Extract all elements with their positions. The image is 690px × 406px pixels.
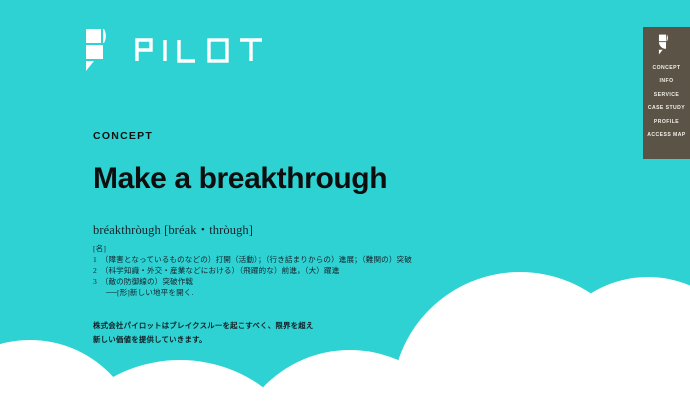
page-title: Make a breakthrough — [93, 163, 613, 195]
page-root: CONCEPT INFO SERVICE CASE STUDY PROFILE … — [0, 0, 690, 406]
body-copy-line-1: 株式会社パイロットはブレイクスルーを起こすべく、限界を超え — [93, 319, 613, 332]
site-logo[interactable] — [84, 27, 284, 73]
sidebar-item-concept[interactable]: CONCEPT — [652, 66, 680, 71]
section-eyebrow-label: CONCEPT — [93, 130, 613, 142]
dictionary-sense-3: 3 （敵の防御線の）突破作戦 — [93, 276, 613, 287]
dictionary-term: bréakthròugh [bréak・thròugh] — [93, 219, 613, 238]
pilot-paper-plane-logo-small-icon — [658, 34, 675, 55]
side-navigation[interactable]: CONCEPT INFO SERVICE CASE STUDY PROFILE … — [643, 27, 690, 159]
dictionary-part-of-speech: [名] — [93, 243, 613, 254]
pilot-wordmark — [134, 37, 284, 63]
sidebar-item-profile[interactable]: PROFILE — [654, 120, 679, 125]
pilot-paper-plane-logo-icon — [84, 28, 120, 72]
sidebar-item-service[interactable]: SERVICE — [654, 93, 679, 98]
dictionary-entry: bréakthròugh [bréak・thròugh] [名] 1 （障害とな… — [93, 219, 613, 299]
dictionary-sense-2: 2 （科学知識・外交・産業などにおける）（飛躍的な）前進，（大）躍進 — [93, 265, 613, 276]
body-copy: 株式会社パイロットはブレイクスルーを起こすべく、限界を超え 新しい価値を提供して… — [93, 319, 613, 346]
main-content: CONCEPT Make a breakthrough bréakthròugh… — [93, 130, 613, 346]
sidebar-item-access-map[interactable]: ACCESS MAP — [647, 133, 685, 138]
dictionary-adjective-note: ──[形]新しい地平を開く. — [93, 287, 613, 298]
sidebar-item-info[interactable]: INFO — [660, 79, 674, 84]
dictionary-sense-1: 1 （障害となっているものなどの）打開（活動）；（行き詰まりからの）進展；（難関… — [93, 254, 613, 265]
sidebar-item-case-study[interactable]: CASE STUDY — [648, 106, 685, 111]
body-copy-line-2: 新しい価値を提供していきます。 — [93, 333, 613, 346]
